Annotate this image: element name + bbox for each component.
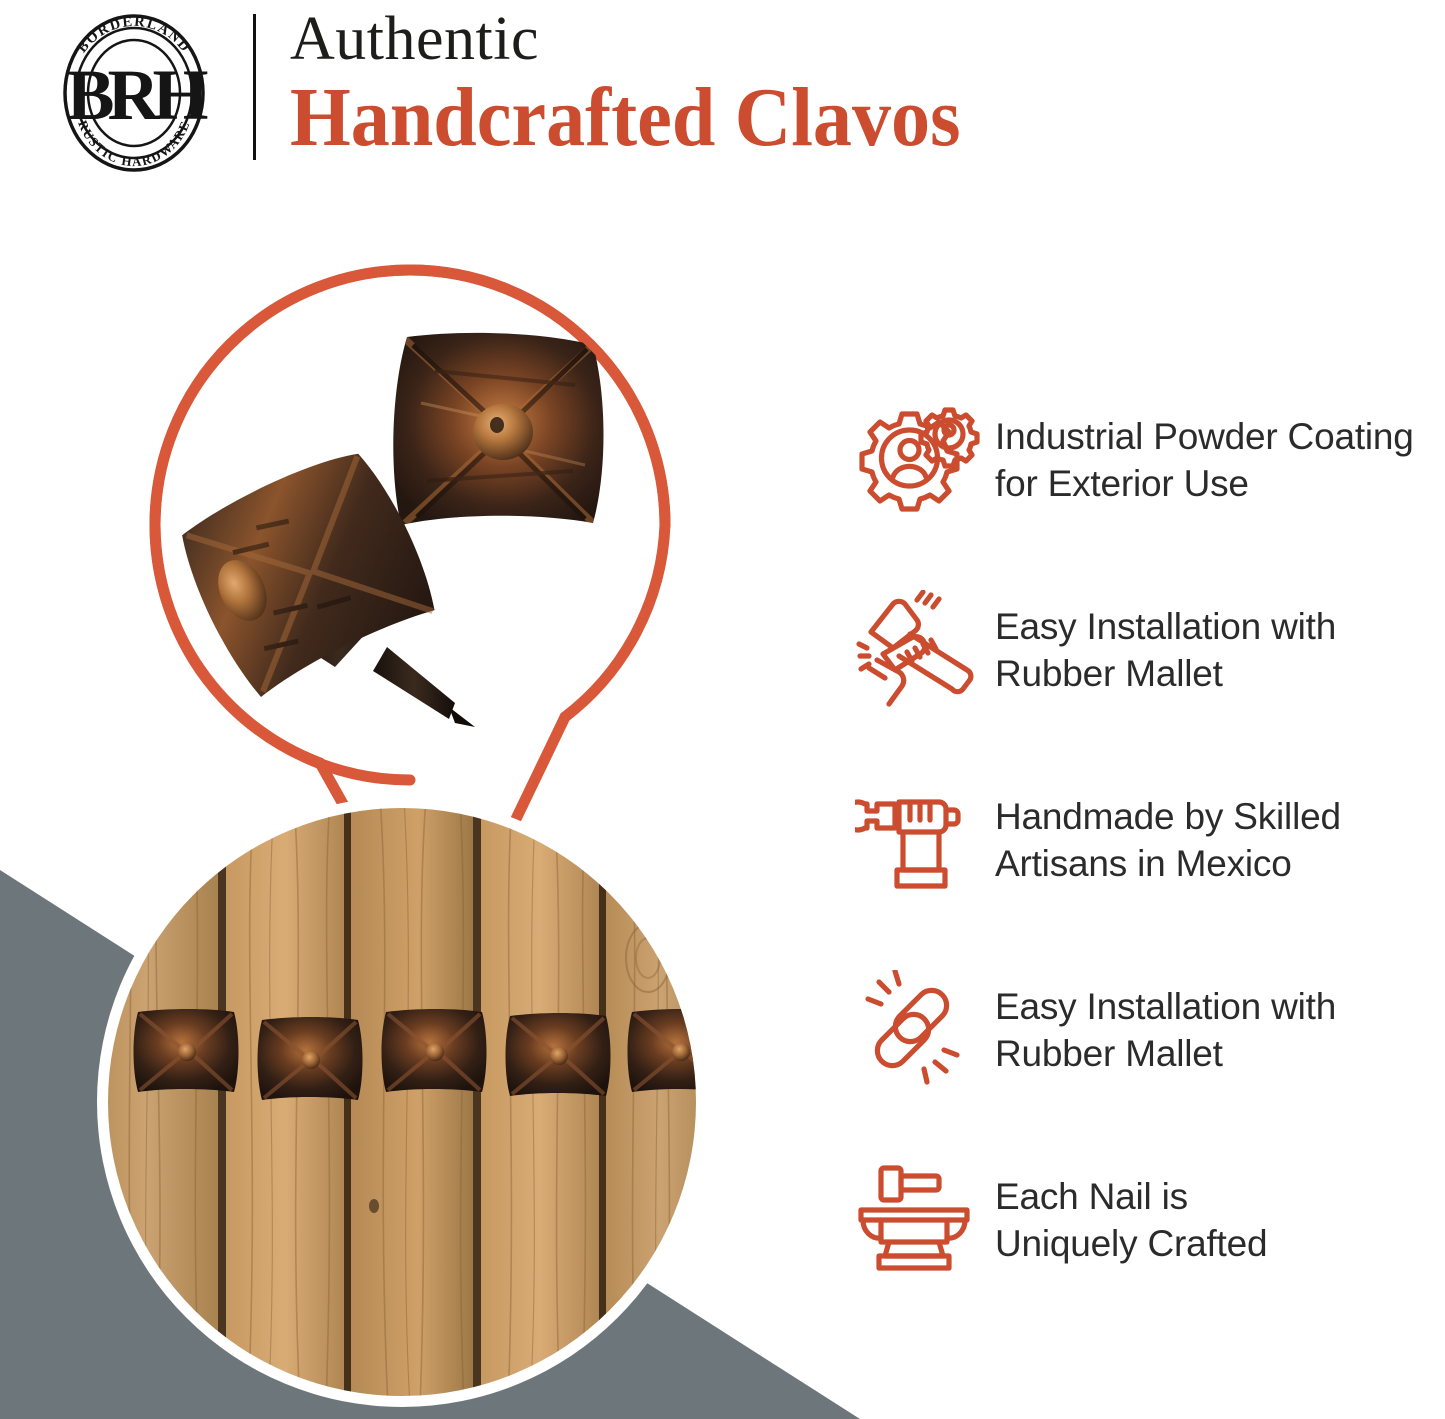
- infographic-page: BORDERLAND RUSTIC HARDWARE BRH Authentic…: [0, 0, 1445, 1419]
- feature-label: Industrial Powder Coating for Exterior U…: [995, 413, 1414, 507]
- feature-item: Industrial Powder Coating for Exterior U…: [845, 365, 1445, 555]
- header-divider: [253, 14, 256, 160]
- clavo-face-view: [393, 333, 603, 525]
- feature-label: Easy Installation with Rubber Mallet: [995, 983, 1336, 1077]
- feature-label: Each Nail is Uniquely Crafted: [995, 1173, 1267, 1267]
- logo-monogram: BRH: [66, 55, 207, 135]
- feature-item: Handmade by Skilled Artisans in Mexico: [845, 745, 1445, 935]
- feature-item: Easy Installation with Rubber Mallet: [845, 935, 1445, 1125]
- title-block: Authentic Handcrafted Clavos: [290, 6, 1390, 164]
- fist-wrench-icon: [845, 775, 995, 905]
- gear-user-icon: [845, 395, 995, 525]
- page-title: Handcrafted Clavos: [290, 72, 1313, 164]
- feature-label: Easy Installation with Rubber Mallet: [995, 603, 1336, 697]
- header: BORDERLAND RUSTIC HARDWARE BRH Authentic…: [0, 0, 1445, 190]
- anvil-hammer-icon: [845, 1155, 995, 1285]
- product-closeup-photo: [155, 275, 665, 785]
- page-eyebrow: Authentic: [290, 6, 1390, 72]
- feature-item: Each Nail is Uniquely Crafted: [845, 1125, 1445, 1315]
- hand-hammer-icon: [845, 585, 995, 715]
- brand-logo-seal: BORDERLAND RUSTIC HARDWARE BRH: [48, 12, 220, 174]
- door-photo-svg: [108, 808, 696, 1396]
- feature-list: Industrial Powder Coating for Exterior U…: [845, 365, 1445, 1315]
- chain-link-icon: [845, 965, 995, 1095]
- feature-item: Easy Installation with Rubber Mallet: [845, 555, 1445, 745]
- feature-label: Handmade by Skilled Artisans in Mexico: [995, 793, 1341, 887]
- door-application-photo: [108, 808, 696, 1396]
